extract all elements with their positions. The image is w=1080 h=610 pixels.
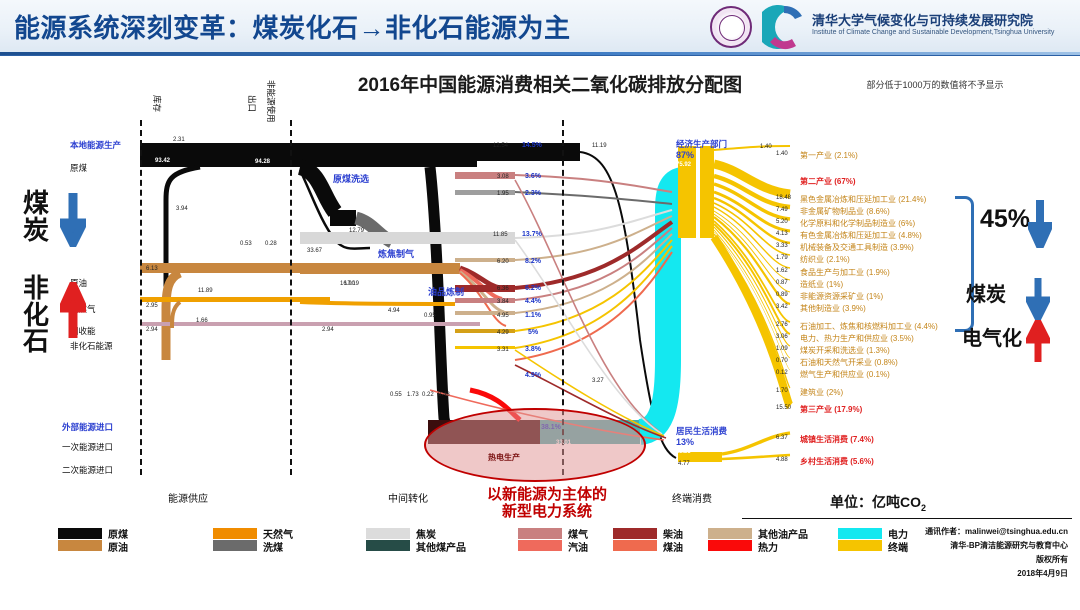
tsinghua-seal-icon (710, 6, 752, 48)
flow-percent-4: 8.2% (525, 258, 541, 265)
flow-value-1: 93.42 (155, 158, 170, 164)
legend-swatch-bottom-4 (613, 540, 657, 551)
flow-value-5: 0.53 (240, 241, 252, 247)
right-label-12: 石油加工、炼焦和核燃料加工业 (4.4%) (800, 321, 938, 332)
footer-author: 通讯作者：malinwei@tsinghua.edu.cn (925, 526, 1068, 537)
flow-value-17: 0.95 (424, 313, 436, 319)
right-label-18: 第三产业 (17.9%) (800, 404, 862, 415)
left-label-0: 本地能源生产 (70, 139, 121, 151)
coal-right-label: 煤炭 (966, 278, 1006, 307)
institute-name-cn: 清华大学气候变化与可持续发展研究院 (812, 10, 1072, 29)
right-value-11: 3.42 (776, 304, 788, 310)
flow-value-12: 2.95 (146, 303, 158, 309)
sector-node-value-1: 11.25 (676, 449, 727, 455)
flow-value-19: 1.73 (407, 392, 419, 398)
institute-name-en: Institute of Climate Change and Sustaina… (812, 29, 1080, 36)
right-label-9: 造纸业 (1%) (800, 279, 843, 290)
footer-date: 2018年4月9日 (1017, 568, 1068, 579)
legend-swatch-bottom-2 (366, 540, 410, 551)
stage-separator-supply (140, 120, 142, 475)
flow-value-29: 4.95 (497, 313, 509, 319)
legend-label-bottom-0: 原油 (108, 539, 128, 554)
flow-value-23: 3.08 (497, 174, 509, 180)
flow-value-18: 0.55 (390, 392, 402, 398)
legend-swatch-top-6 (838, 528, 882, 539)
right-label-2: 黑色金属冶炼和压延加工业 (21.4%) (800, 194, 926, 205)
sector-node-name-1: 居民生活消费 (676, 425, 727, 437)
flow-percent-9: 3.8% (525, 346, 541, 353)
right-label-0: 第一产业 (2.1%) (800, 150, 858, 161)
legend-label-bottom-6: 终端 (888, 539, 908, 554)
stage-label-supply: 能源供应 (168, 490, 208, 505)
legend-label-bottom-2: 其他煤产品 (416, 539, 466, 554)
right-value-13: 3.06 (776, 334, 788, 340)
flow-value-10: 16.90 (340, 281, 355, 287)
right-label-7: 纺织业 (2.1%) (800, 254, 850, 265)
legend-swatch-top-5 (708, 528, 752, 539)
stage-label-consumption: 终端消费 (672, 490, 712, 505)
right-label-4: 化学原料和化学制品制造业 (6%) (800, 218, 915, 229)
flow-value-14: 2.94 (146, 327, 158, 333)
flow-value-22: 12.54 (493, 143, 508, 149)
footer-divider (742, 518, 1072, 519)
flow-value-8: 33.67 (307, 248, 322, 254)
right-value-15: 0.70 (776, 358, 788, 364)
right-value-12: 2.76 (776, 322, 788, 328)
right-label-17: 建筑业 (2%) (800, 387, 843, 398)
stage-label-conversion: 中间转化 (388, 490, 428, 505)
right-value-18: 15.50 (776, 405, 791, 411)
right-label-6: 机械装备及交通工具制造 (3.9%) (800, 242, 914, 253)
flow-percent-6: 4.4% (525, 298, 541, 305)
flow-value-31: 3.31 (497, 347, 509, 353)
right-label-5: 有色金属冶炼和压延加工业 (4.8%) (800, 230, 922, 241)
coal-down-arrow-left-icon (60, 193, 86, 247)
new-power-system-callout-line2: 新型电力系统 (452, 500, 642, 521)
flow-percent-1: 3.6% (525, 173, 541, 180)
right-label-14: 煤炭开采和洗选业 (1.3%) (800, 345, 890, 356)
right-value-16: 0.12 (776, 370, 788, 376)
unit-text: 单位：亿吨CO (830, 494, 921, 510)
right-value-4: 5.20 (776, 219, 788, 225)
flow-percent-7: 1.1% (525, 312, 541, 319)
unit-subscript: 2 (921, 503, 926, 513)
vertical-label-2: 非能源使用 (265, 80, 277, 123)
legend-swatch-top-1 (213, 528, 257, 539)
sector-node-pct-1: 13% (676, 437, 727, 447)
right-label-16: 燃气生产和供应业 (0.1%) (800, 369, 890, 380)
conversion-node-0: 原煤洗选 (333, 172, 369, 185)
sector-node-1: 居民生活消费13%11.25 (676, 425, 727, 455)
right-label-13: 电力、热力生产和供应业 (3.5%) (800, 333, 914, 344)
institute-logo-icon (762, 4, 806, 50)
flow-value-24: 1.95 (497, 191, 509, 197)
flow-value-15: 2.94 (322, 327, 334, 333)
flow-value-11: 11.89 (198, 288, 213, 294)
flow-value-30: 4.29 (497, 330, 509, 336)
right-value-0: 1.40 (776, 151, 788, 157)
conversion-node-1: 炼焦制气 (378, 247, 414, 260)
legend-label-bottom-3: 汽油 (568, 539, 588, 554)
flow-percent-5: 6.2% (525, 285, 541, 292)
legend-label-bottom-5: 热力 (758, 539, 778, 554)
stage-separator-conversion (290, 120, 292, 475)
flow-percent-3: 13.7% (522, 231, 542, 238)
right-value-6: 3.33 (776, 243, 788, 249)
flow-value-0: 2.31 (173, 137, 185, 143)
flow-value-4: 12.79 (349, 228, 364, 234)
sector-node-pct-0: 87% (676, 150, 727, 160)
right-value-19: 6.37 (776, 435, 788, 441)
flow-percent-0: 14.5% (522, 142, 542, 149)
flow-value-26: 6.20 (497, 259, 509, 265)
legend-label-bottom-4: 煤油 (663, 539, 683, 554)
flow-value-35: 1.40 (760, 144, 772, 150)
right-value-17: 1.70 (776, 388, 788, 394)
thermal-power-label: 热电生产 (488, 452, 520, 463)
legend-swatch-top-4 (613, 528, 657, 539)
45pct-down-arrow-icon (1028, 200, 1052, 248)
flow-percent-8: 5% (528, 329, 538, 336)
right-label-20: 乡村生活消费 (5.6%) (800, 456, 874, 467)
flow-value-28: 3.84 (497, 299, 509, 305)
legend-swatch-bottom-1 (213, 540, 257, 551)
right-label-19: 城镇生活消费 (7.4%) (800, 434, 874, 445)
flow-value-25: 11.85 (493, 232, 508, 238)
right-value-20: 4.88 (776, 457, 788, 463)
right-value-5: 4.13 (776, 231, 788, 237)
coal-decline-label: 煤炭 (14, 190, 58, 243)
right-label-15: 石油和天然气开采业 (0.8%) (800, 357, 898, 368)
slide-title: 能源系统深刻变革：煤炭化石→非化石能源为主 (14, 8, 694, 48)
footer-center: 清华-BP清洁能源研究与教育中心 (950, 540, 1068, 551)
legend-swatch-bottom-0 (58, 540, 102, 551)
flow-value-32: 11.19 (592, 143, 607, 149)
flow-value-20: 0.22 (422, 392, 434, 398)
right-label-1: 第二产业 (67%) (800, 176, 856, 187)
flow-value-21: 0.48 (438, 392, 450, 398)
right-label-8: 食品生产与加工业 (1.9%) (800, 267, 890, 278)
flow-value-3: 3.94 (176, 206, 188, 212)
flow-value-33: 3.27 (592, 378, 604, 384)
legend-swatch-top-3 (518, 528, 562, 539)
flow-value-2: 94.28 (255, 159, 270, 165)
header-underline (0, 52, 1080, 55)
left-label-1: 原煤 (70, 162, 87, 174)
legend-swatch-bottom-3 (518, 540, 562, 551)
vertical-label-0: 库存 (151, 95, 163, 112)
flow-value-6: 0.28 (265, 241, 277, 247)
legend-swatch-bottom-5 (708, 540, 752, 551)
electrification-label: 电气化 (962, 322, 1022, 351)
legend-label-bottom-1: 洗煤 (263, 539, 283, 554)
left-label-7: 一次能源进口 (62, 441, 113, 453)
flow-percent-2: 2.3% (525, 190, 541, 197)
coal-down-arrow-right-icon (1026, 278, 1050, 320)
45pct-bracket (955, 196, 974, 332)
left-label-6: 外部能源进口 (62, 421, 113, 433)
conversion-node-2: 油品炼制 (428, 285, 464, 298)
left-label-8: 二次能源进口 (62, 464, 113, 476)
left-label-5: 非化石能源 (70, 340, 113, 352)
right-value-7: 1.79 (776, 255, 788, 261)
sector-node-0: 经济生产部门87%75.92 (676, 138, 727, 168)
electrification-up-arrow-icon (1026, 320, 1050, 362)
right-label-3: 非金属矿物制品业 (8.6%) (800, 206, 890, 217)
thermal-power-highlight-ellipse (424, 408, 646, 482)
flow-value-34: 4.77 (678, 461, 690, 467)
flow-percent-10: 4.9% (525, 372, 541, 379)
right-label-11: 其他制造业 (3.9%) (800, 303, 866, 314)
right-value-14: 1.09 (776, 346, 788, 352)
right-value-8: 1.62 (776, 268, 788, 274)
unit-label: 单位：亿吨CO2 (830, 492, 926, 513)
right-label-10: 非能源资源采矿业 (1%) (800, 291, 883, 302)
right-value-3: 7.49 (776, 207, 788, 213)
legend: 原煤原油天然气洗煤焦炭其他煤产品煤气汽油柴油煤油其他油产品热力电力终端 (58, 528, 718, 568)
flow-value-13: 1.66 (196, 318, 208, 324)
nonfossil-rise-label: 非化石 (14, 275, 58, 355)
flow-value-27: 6.36 (497, 286, 509, 292)
nonfossil-up-arrow-left-icon (60, 282, 86, 338)
vertical-label-1: 出口 (246, 95, 258, 112)
45pct-label: 45% (980, 205, 1030, 234)
flow-value-7: 6.13 (146, 266, 158, 272)
right-value-2: 18.48 (776, 195, 791, 201)
flow-value-16: 4.94 (388, 308, 400, 314)
legend-swatch-top-0 (58, 528, 102, 539)
right-value-10: 0.89 (776, 292, 788, 298)
sector-node-value-0: 75.92 (676, 162, 727, 168)
legend-swatch-top-2 (366, 528, 410, 539)
sector-node-name-0: 经济生产部门 (676, 138, 727, 150)
footer-rights: 版权所有 (1036, 554, 1068, 565)
legend-swatch-bottom-6 (838, 540, 882, 551)
right-value-9: 0.87 (776, 280, 788, 286)
